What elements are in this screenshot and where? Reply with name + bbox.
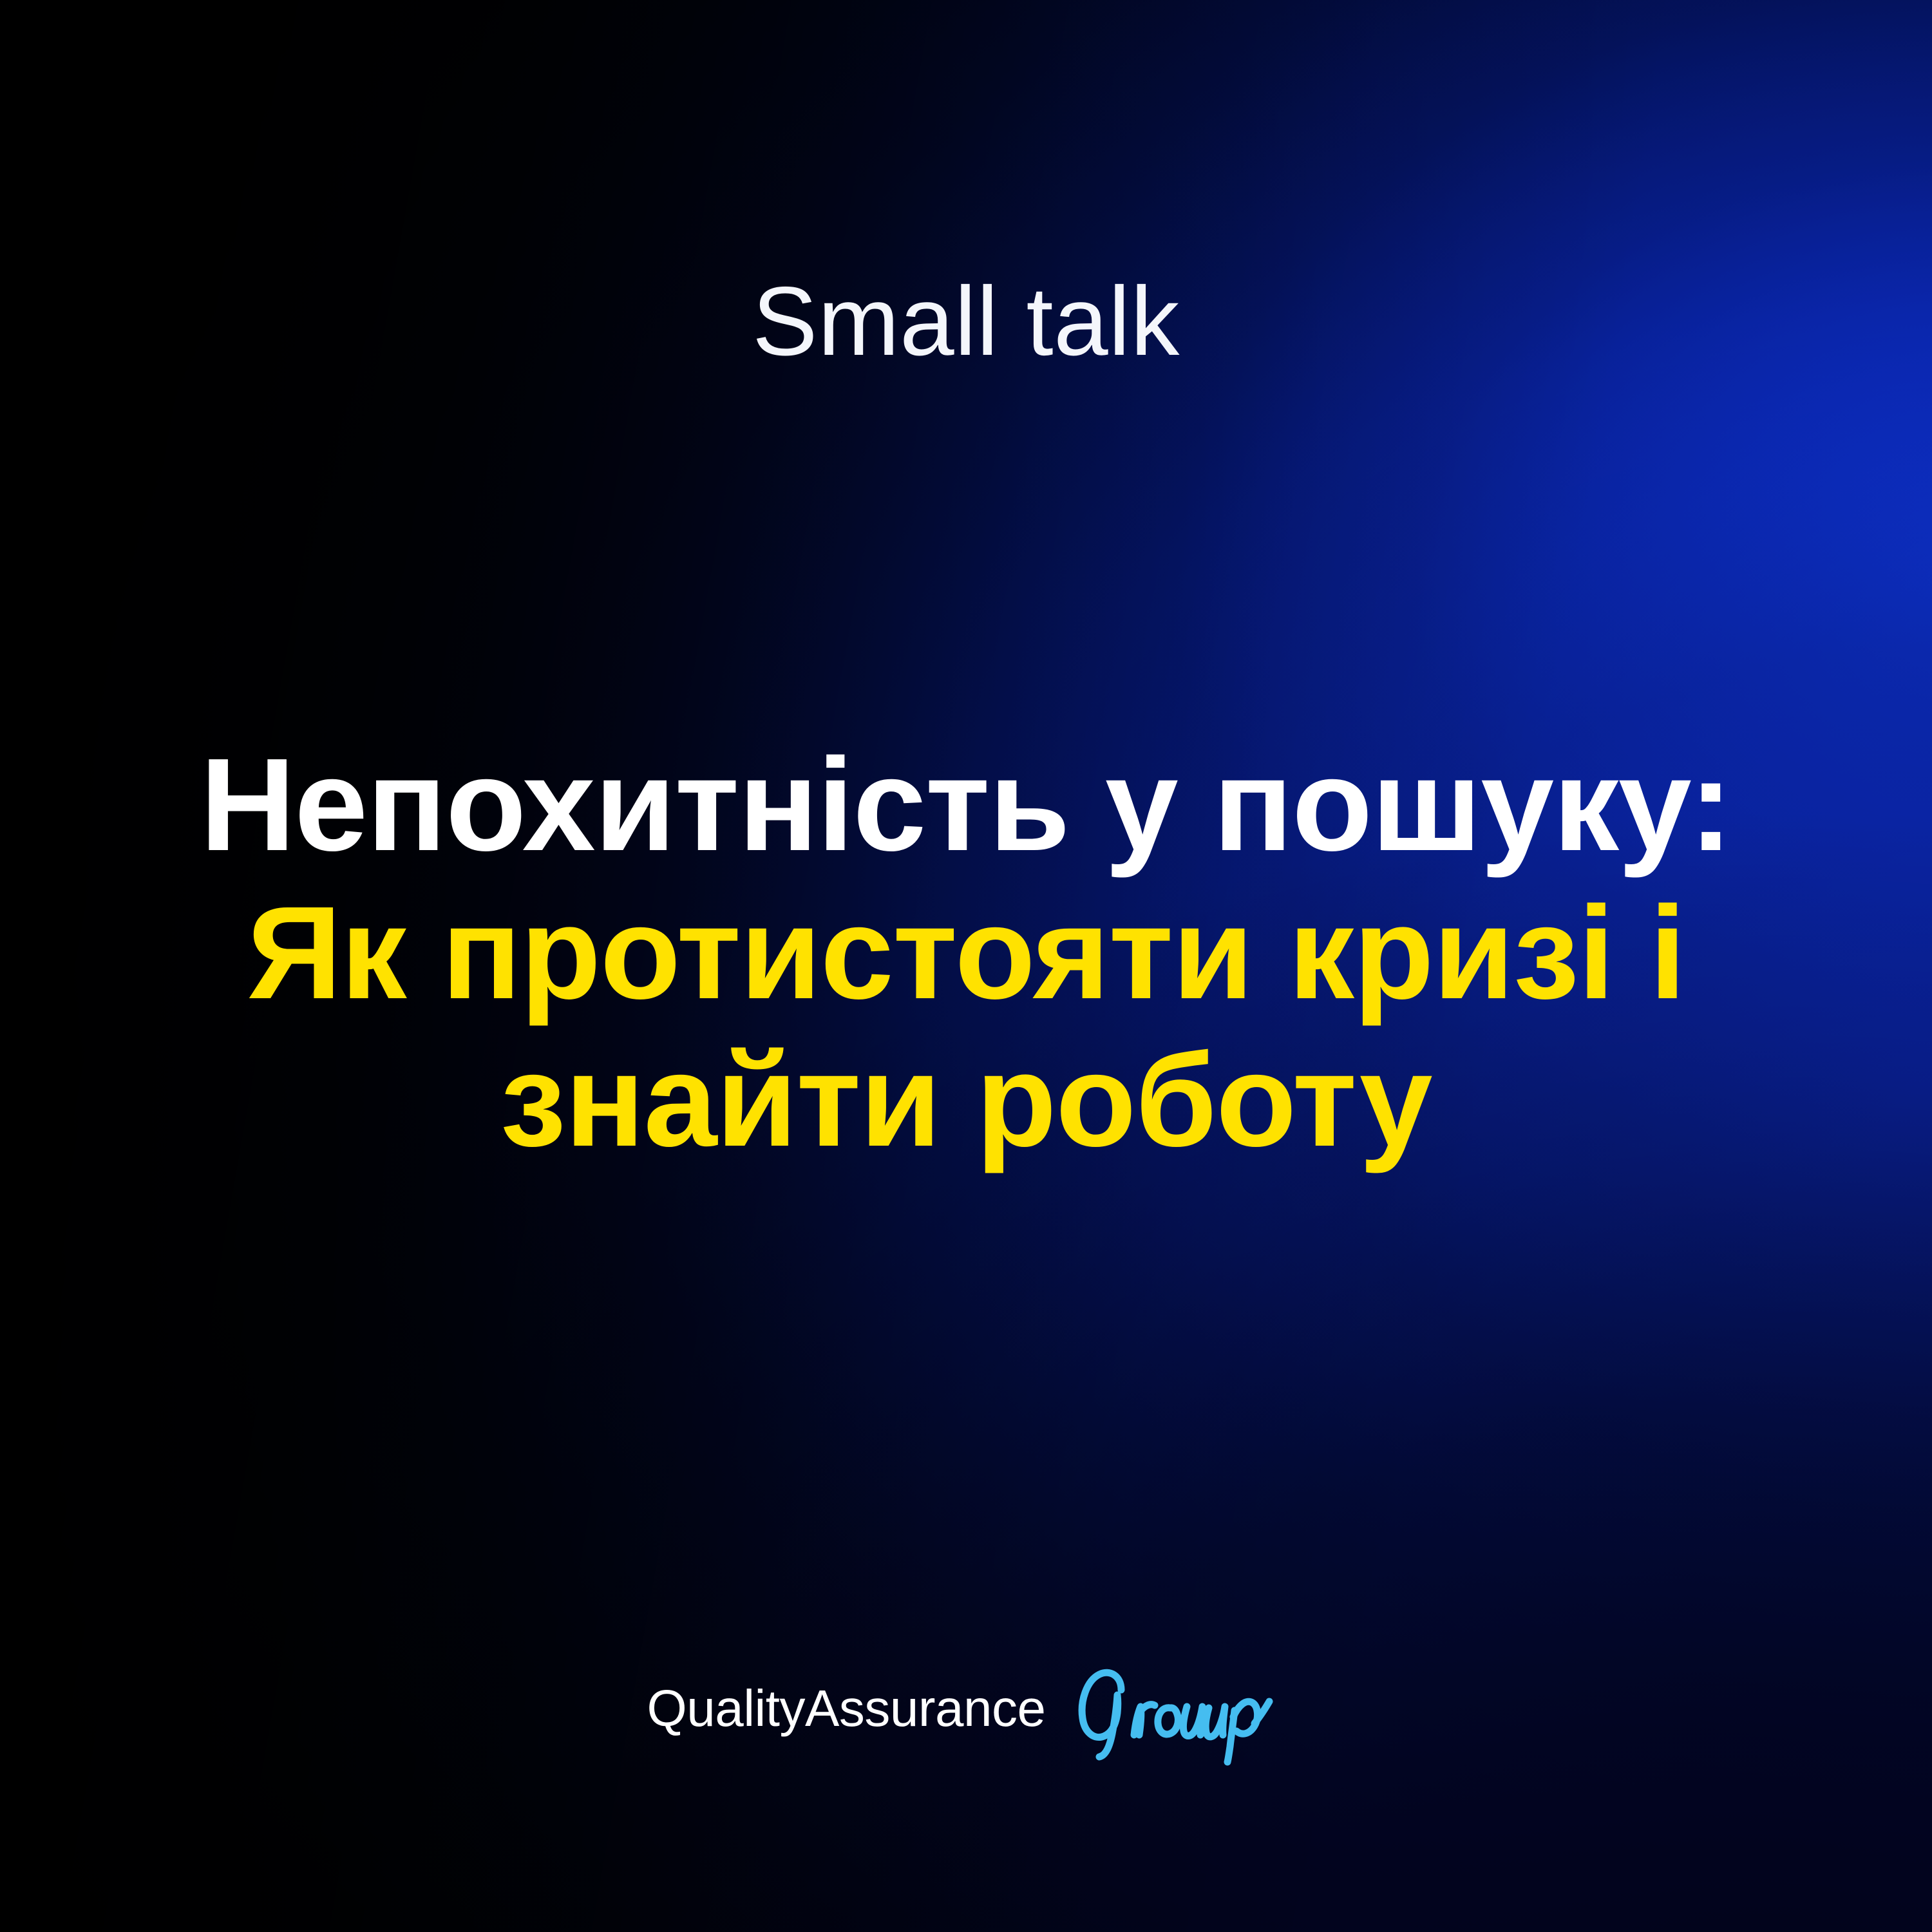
- brand-script-group-icon: [1072, 1659, 1285, 1762]
- headline-line-3: знайти роботу: [77, 1027, 1855, 1175]
- page-title: Непохитність у пошуку: Як протистояти кр…: [0, 731, 1932, 1175]
- brand-logo: QualityAssurance: [0, 1655, 1932, 1762]
- card-content: Small talk Непохитність у пошуку: Як про…: [0, 0, 1932, 1932]
- brand-wordmark: QualityAssurance: [647, 1683, 1046, 1734]
- headline-line-1: Непохитність у пошуку:: [77, 731, 1855, 879]
- headline-line-2: Як протистояти кризі і: [77, 879, 1855, 1027]
- social-card: Small talk Непохитність у пошуку: Як про…: [0, 0, 1932, 1932]
- eyebrow-label: Small talk: [0, 270, 1932, 374]
